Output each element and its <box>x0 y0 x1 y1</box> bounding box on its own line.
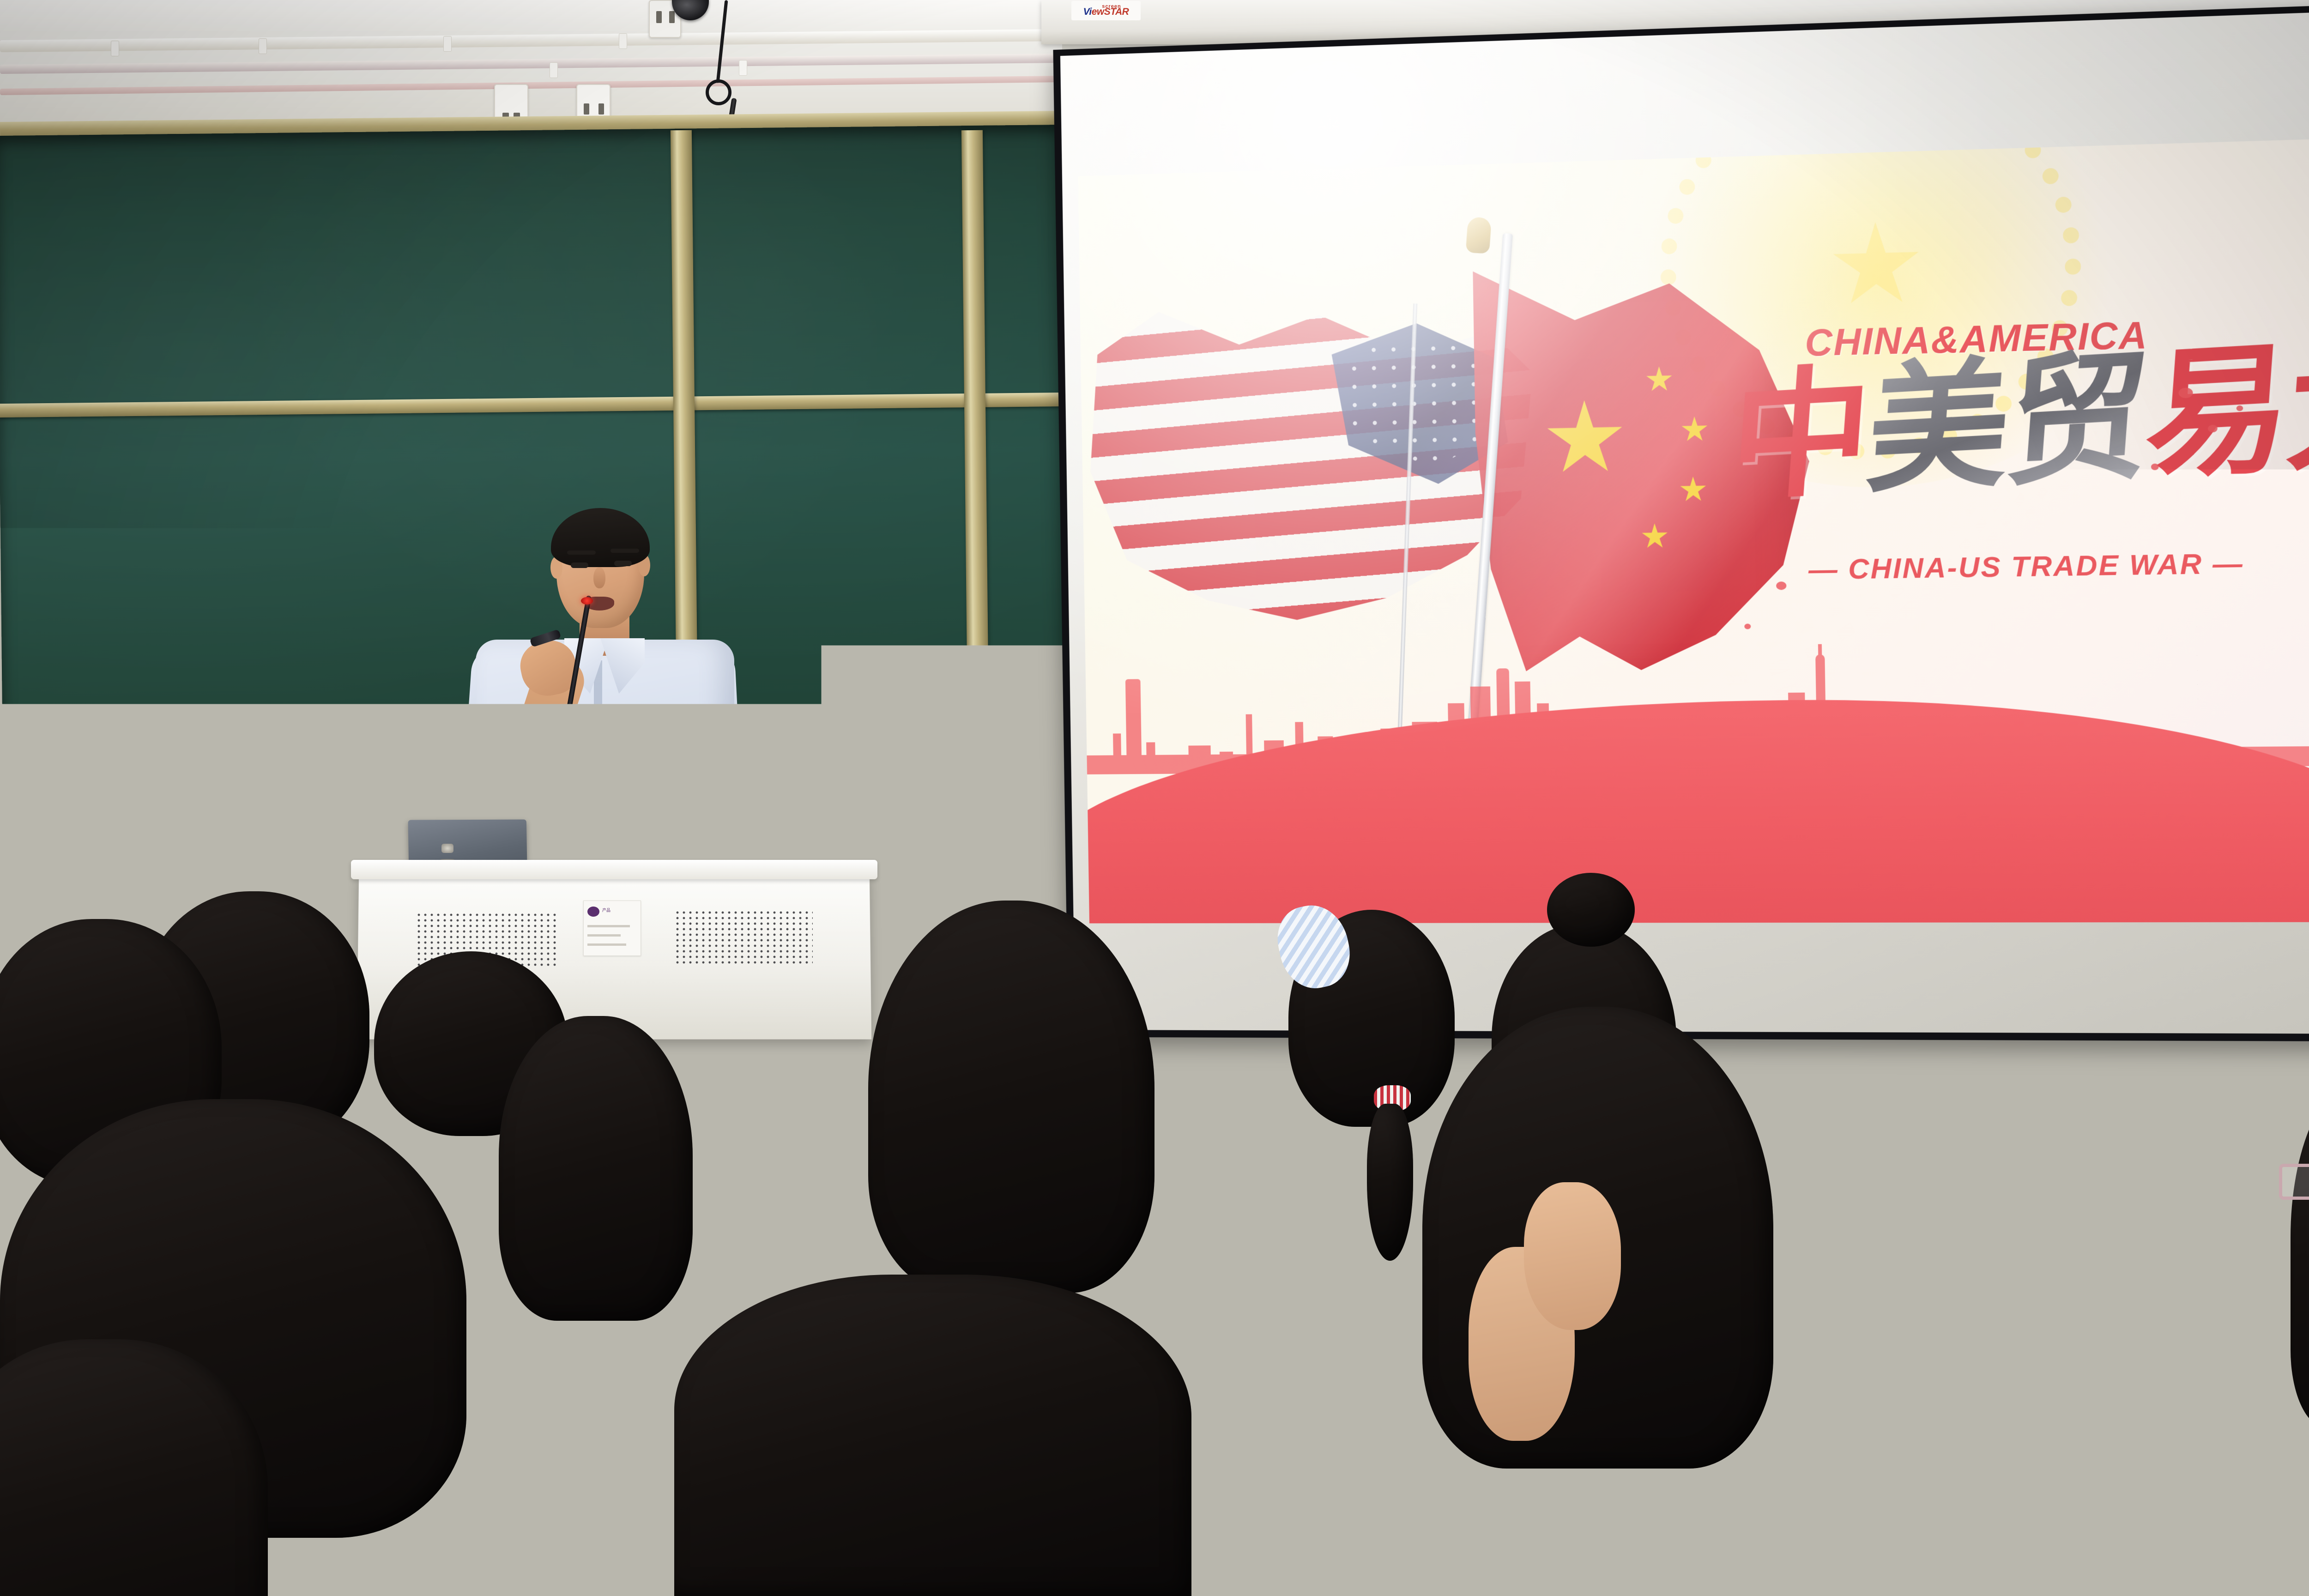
conduit-clip <box>111 41 119 56</box>
classroom-scene: screen ViewSTAR <box>0 0 2309 1596</box>
conduit-clip <box>739 60 747 76</box>
laptop-latch <box>441 844 453 853</box>
bottle-highlight <box>1182 1108 1190 1242</box>
projection-screen-frame: CHINA&AMERICA 中美贸易大战 — CHINA-US TRADE WA… <box>1053 5 2309 1041</box>
presenter-eyebrow-left <box>567 550 596 555</box>
microphone-cable-loop <box>706 79 731 105</box>
slide-subtitle: — CHINA-US TRADE WAR — <box>1808 547 2244 586</box>
screen-brand-logo: screen ViewSTAR <box>1071 1 1141 20</box>
shirt-button <box>596 827 602 833</box>
podium-worktop <box>351 860 877 879</box>
water-bottle[interactable] <box>1173 1101 1219 1258</box>
ink-splatter <box>1744 623 1751 629</box>
podium-equipment-label: 产品 <box>583 901 641 956</box>
conduit-clip <box>259 38 267 54</box>
student-head-side <box>2152 1312 2244 1418</box>
presenter-eye-left <box>571 562 588 568</box>
conduit-clip <box>550 62 558 78</box>
presenter-eyebrow-right <box>610 549 639 553</box>
student-hair <box>674 1275 1191 1596</box>
student-ponytail <box>1367 1104 1413 1261</box>
podium-vent-right <box>674 910 813 965</box>
conduit-clip <box>619 33 627 49</box>
ceiling-strip <box>0 0 1076 31</box>
projection-screen-surface: CHINA&AMERICA 中美贸易大战 — CHINA-US TRADE WA… <box>1060 12 2309 1034</box>
presenter-eye-right <box>614 561 632 566</box>
ink-splatter <box>1776 581 1786 590</box>
screen-brand-main: ViewSTAR <box>1083 7 1129 17</box>
student-face-side <box>1524 1182 1621 1330</box>
flagpole-finial <box>1466 217 1492 254</box>
presenter-nose <box>593 567 605 588</box>
conduit-clip <box>443 36 452 52</box>
shirt-button <box>596 767 602 773</box>
shirt-button <box>596 707 602 713</box>
student-hair <box>499 1016 693 1321</box>
presentation-slide: CHINA&AMERICA 中美贸易大战 — CHINA-US TRADE WA… <box>1078 139 2309 924</box>
student-hair-bun <box>1547 873 1635 947</box>
student-hair <box>868 901 1154 1293</box>
microphone-led-indicator <box>581 597 593 605</box>
student-hand <box>1930 1288 2023 1372</box>
